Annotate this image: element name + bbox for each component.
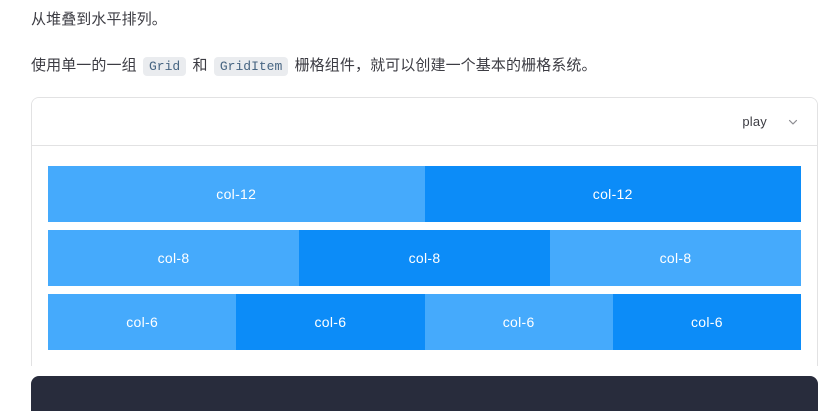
demo-panel-body: col-12col-12col-8col-8col-8col-6col-6col… bbox=[32, 146, 817, 366]
grid-cell-col-12: col-12 bbox=[48, 166, 425, 222]
grid-cell-col-8: col-8 bbox=[550, 230, 801, 286]
grid-cell-label: col-6 bbox=[503, 315, 535, 329]
grid-cell-label: col-8 bbox=[158, 251, 190, 265]
paragraph-stacked-to-horizontal: 从堆叠到水平排列。 bbox=[31, 7, 167, 33]
chevron-down-icon[interactable] bbox=[785, 114, 801, 130]
source-code-block bbox=[31, 376, 818, 411]
inline-code-griditem: GridItem bbox=[214, 57, 288, 76]
grid-cell-col-6: col-6 bbox=[425, 294, 613, 350]
col-12-row: col-12col-12 bbox=[48, 166, 801, 222]
play-toggle-label[interactable]: play bbox=[742, 114, 767, 129]
grid-cell-col-8: col-8 bbox=[299, 230, 550, 286]
grid-cell-label: col-8 bbox=[660, 251, 692, 265]
grid-cell-label: col-12 bbox=[593, 187, 633, 201]
paragraph-text-part-1: 使用单一的一组 bbox=[31, 57, 137, 74]
grid-cell-label: col-12 bbox=[216, 187, 256, 201]
grid-rows-container: col-12col-12col-8col-8col-8col-6col-6col… bbox=[48, 166, 801, 350]
grid-cell-col-12: col-12 bbox=[425, 166, 802, 222]
grid-cell-label: col-6 bbox=[691, 315, 723, 329]
col-6-row: col-6col-6col-6col-6 bbox=[48, 294, 801, 350]
grid-cell-label: col-8 bbox=[409, 251, 441, 265]
page-root: 从堆叠到水平排列。 使用单一的一组 Grid 和 GridItem 栅格组件，就… bbox=[0, 0, 831, 411]
demo-panel: play col-12col-12col-8col-8col-8col-6col… bbox=[31, 97, 818, 366]
inline-code-grid: Grid bbox=[143, 57, 186, 76]
grid-cell-col-6: col-6 bbox=[48, 294, 236, 350]
demo-panel-header: play bbox=[32, 98, 817, 146]
grid-cell-label: col-6 bbox=[314, 315, 346, 329]
grid-cell-col-6: col-6 bbox=[236, 294, 424, 350]
paragraph-text-part-3: 栅格组件，就可以创建一个基本的栅格系统。 bbox=[295, 57, 597, 74]
grid-cell-col-6: col-6 bbox=[613, 294, 801, 350]
grid-cell-label: col-6 bbox=[126, 315, 158, 329]
paragraph-text-part-2: 和 bbox=[192, 57, 207, 74]
col-8-row: col-8col-8col-8 bbox=[48, 230, 801, 286]
paragraph-grid-usage: 使用单一的一组 Grid 和 GridItem 栅格组件，就可以创建一个基本的栅… bbox=[31, 53, 597, 80]
grid-cell-col-8: col-8 bbox=[48, 230, 299, 286]
